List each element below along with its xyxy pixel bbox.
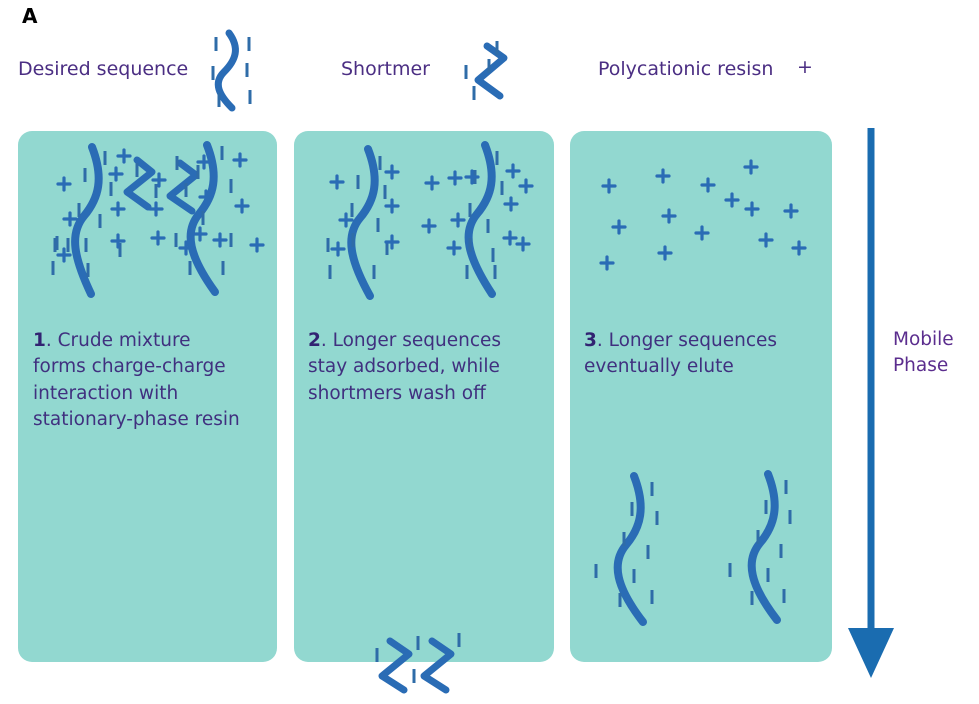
legend-icon-long-strand <box>212 33 252 108</box>
column-3-step-number: 3 <box>584 330 597 351</box>
legend-icon-zigzag-shortmer <box>465 41 505 100</box>
column-2-step-number: 2 <box>308 330 321 351</box>
mobile-phase-label: Mobile Phase <box>893 327 954 380</box>
column-1-caption-text: . Crude mixture forms charge-charge inte… <box>33 330 240 430</box>
mobile-phase-arrow-icon <box>848 128 894 678</box>
column-2-caption-text: . Longer sequences stay adsorbed, while … <box>308 330 501 404</box>
column-3-body <box>570 131 832 662</box>
column-3-caption: 3. Longer sequences eventually elute <box>584 328 824 381</box>
panel-letter-a: A <box>22 4 38 28</box>
column-2-caption: 2. Longer sequences stay adsorbed, while… <box>308 328 546 407</box>
column-1-caption: 1. Crude mixture forms charge-charge int… <box>33 328 268 433</box>
column-1-step-number: 1 <box>33 330 46 351</box>
legend-label-shortmer: Shortmer <box>341 60 430 79</box>
legend-label-polycationic-resin: Polycationic resisn <box>598 60 773 79</box>
column-3-caption-text: . Longer sequences eventually elute <box>584 330 777 377</box>
legend-plus-symbol: + <box>797 58 813 77</box>
figure-canvas: A Desired sequence Shortmer Polycationic… <box>0 0 979 704</box>
legend-label-desired-sequence: Desired sequence <box>18 60 188 79</box>
